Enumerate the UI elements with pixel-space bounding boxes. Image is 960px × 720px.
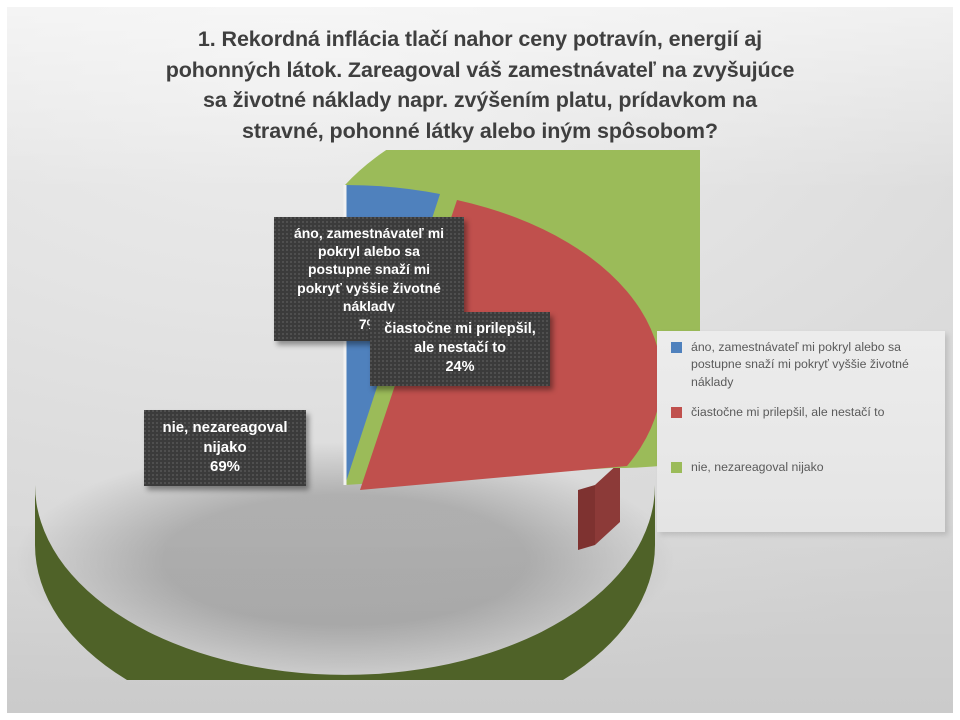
legend-item-ano[interactable]: áno, zamestnávateľ mi pokryl alebo sa po… bbox=[657, 339, 945, 391]
legend-spacer bbox=[657, 435, 945, 459]
legend-swatch-ano bbox=[671, 342, 682, 353]
chart-title: 1. Rekordná inflácia tlačí nahor ceny po… bbox=[40, 24, 920, 146]
legend-swatch-ciastocne bbox=[671, 407, 682, 418]
data-label-nie: nie, nezareagoval nijako 69% bbox=[144, 410, 306, 486]
legend-label-ciastocne: čiastočne mi prilepšil, ale nestačí to bbox=[691, 404, 884, 421]
legend-label-ano: áno, zamestnávateľ mi pokryl alebo sa po… bbox=[691, 339, 935, 391]
chart-legend: áno, zamestnávateľ mi pokryl alebo sa po… bbox=[657, 331, 945, 532]
legend-swatch-nie bbox=[671, 462, 682, 473]
legend-item-ciastocne[interactable]: čiastočne mi prilepšil, ale nestačí to bbox=[657, 404, 945, 421]
legend-item-nie[interactable]: nie, nezareagoval nijako bbox=[657, 459, 945, 476]
legend-label-nie: nie, nezareagoval nijako bbox=[691, 459, 824, 476]
data-label-ciastocne: čiastočne mi prilepšil, ale nestačí to 2… bbox=[370, 312, 550, 386]
pie-slice-side-ciastocne-edge bbox=[578, 485, 595, 550]
chart-screenshot: 1. Rekordná inflácia tlačí nahor ceny po… bbox=[0, 0, 960, 720]
